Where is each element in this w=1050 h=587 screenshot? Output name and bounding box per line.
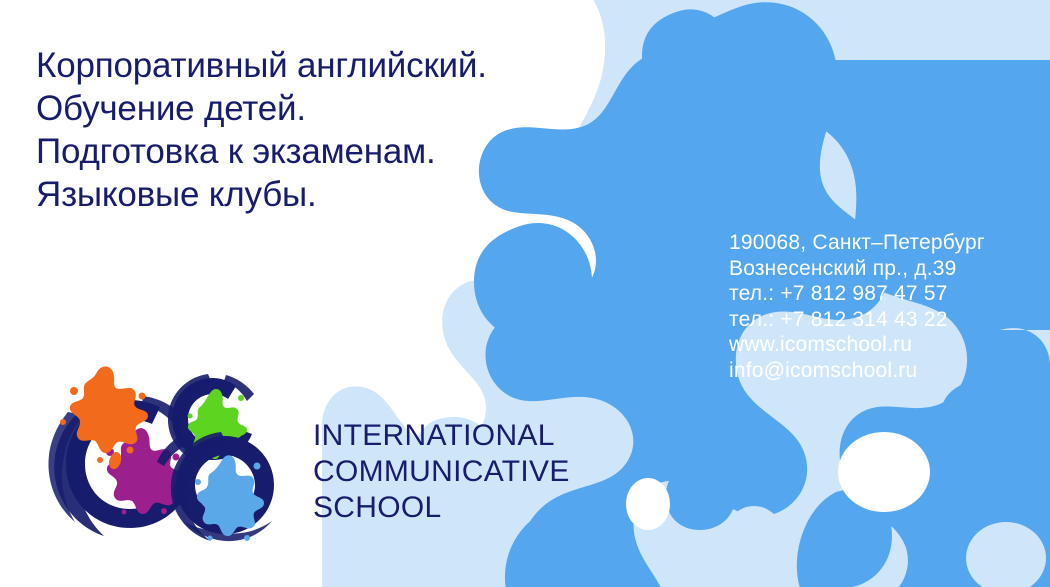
contact-block: 190068, Санкт–Петербург Вознесенский пр.… [729,230,985,383]
splash-negative-space [626,432,930,530]
headline-block: Корпоративный английский. Обучение детей… [36,44,487,216]
phone-secondary: тел.: +7 812 314 43 22 [729,307,985,333]
headline-line-2: Обучение детей. [36,87,487,130]
wordmark-line-3: SCHOOL [313,490,570,526]
business-card: Корпоративный английский. Обучение детей… [0,0,1050,587]
email-address[interactable]: info@icomschool.ru [729,358,985,384]
website-url[interactable]: www.icomschool.ru [729,332,985,358]
logo-wordmark: INTERNATIONAL COMMUNICATIVE SCHOOL [313,418,570,526]
headline-line-1: Корпоративный английский. [36,44,487,87]
ics-logo-mark [38,360,293,545]
address-line-2: Вознесенский пр., д.39 [729,256,985,282]
wordmark-line-1: INTERNATIONAL [313,418,570,454]
headline-line-3: Подготовка к экзаменам. [36,130,487,173]
phone-primary: тел.: +7 812 987 47 57 [729,281,985,307]
headline-line-4: Языковые клубы. [36,173,487,216]
address-line-1: 190068, Санкт–Петербург [729,230,985,256]
wordmark-line-2: COMMUNICATIVE [313,454,570,490]
